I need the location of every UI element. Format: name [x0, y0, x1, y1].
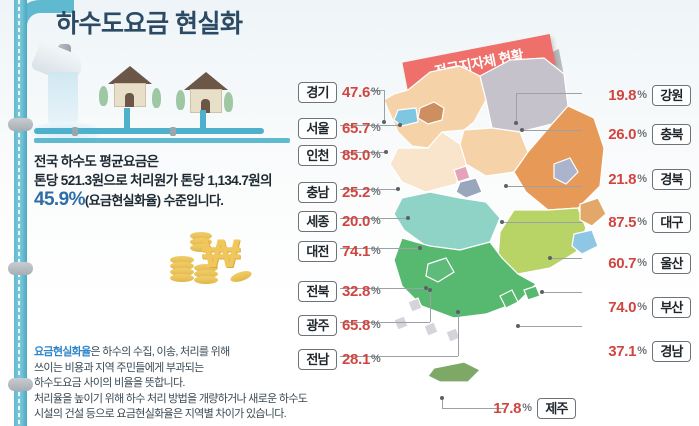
main-sewer-pipe-icon	[34, 128, 264, 134]
region-name: 전북	[298, 281, 337, 302]
korea-map	[368, 52, 618, 397]
percent-unit: %	[371, 353, 381, 365]
leader-dot	[516, 324, 520, 328]
leader-line	[520, 326, 582, 328]
region-value: 87.5	[608, 214, 636, 231]
region-chip-chungnam[interactable]: 충남 25.2 %	[298, 181, 381, 203]
region-value: 65.7	[342, 120, 370, 137]
region-name: 경기	[298, 82, 337, 103]
leader-dot	[398, 123, 402, 127]
region-value: 19.8	[608, 87, 636, 104]
percent-unit: %	[637, 301, 647, 313]
house-icon	[184, 72, 224, 110]
percent-unit: %	[637, 257, 647, 269]
pipe-band-icon	[8, 378, 33, 391]
leader-dot	[540, 290, 544, 294]
region-value: 85.0	[342, 147, 370, 164]
region-name: 대구	[652, 212, 691, 233]
leader-line	[430, 290, 432, 322]
leader-line	[504, 222, 582, 224]
region-value: 25.2	[342, 184, 370, 201]
region-value: 28.1	[342, 351, 370, 368]
leader-dot	[396, 187, 400, 191]
region-name: 전남	[298, 349, 337, 370]
region-value: 21.8	[608, 171, 636, 188]
infographic-root: 하수도요금 현실화 전국 하수도 평균요금은 톤당 521.3원으로 처리원가 …	[0, 0, 699, 426]
leader-line	[516, 93, 582, 95]
region-name: 서울	[298, 118, 337, 139]
percent-unit: %	[371, 186, 381, 198]
footnote-line-1-rest: 은 하수의 수집, 이송, 처리를 위해	[91, 346, 230, 358]
leader-dot	[500, 220, 504, 224]
region-value: 60.7	[608, 255, 636, 272]
leader-dot	[456, 310, 460, 314]
region-value: 20.0	[342, 213, 370, 230]
summary-line-1: 전국 하수도 평균요금은	[34, 152, 310, 171]
pipe-band-icon	[8, 262, 33, 275]
service-pipe-icon	[200, 110, 206, 128]
region-name: 충북	[652, 124, 691, 145]
region-name: 대전	[298, 241, 337, 262]
leader-dot	[548, 256, 552, 260]
footnote-line-3: 하수도요금 사이의 비율을 뜻합니다.	[34, 376, 334, 392]
region-chip-incheon[interactable]: 인천 85.0 %	[298, 144, 381, 166]
percent-unit: %	[637, 216, 647, 228]
realization-rate-caption: (요금현실화율) 수준입니다.	[85, 193, 223, 208]
won-currency-icon: ₩	[202, 234, 240, 274]
percent-unit: %	[371, 122, 381, 134]
leader-dot	[418, 246, 422, 250]
region-chip-gyeonggi[interactable]: 경기 47.6 %	[298, 81, 381, 103]
region-chip-gwangju[interactable]: 광주 65.8 %	[298, 314, 381, 336]
region-chip-daegu[interactable]: 87.5 % 대구	[586, 211, 691, 233]
region-name: 인천	[298, 145, 337, 166]
region-chip-ulsan[interactable]: 60.7 % 울산	[586, 252, 691, 274]
region-chip-jeonnam[interactable]: 전남 28.1 %	[298, 348, 381, 370]
percent-unit: %	[637, 89, 647, 101]
percent-unit: %	[522, 402, 532, 414]
footnote-line-4: 처리율을 높이기 위해 하수 처리 방법을 개량하거나 새로운 하수도	[34, 392, 334, 408]
percent-unit: %	[637, 345, 647, 357]
coins-illustration: ₩	[168, 232, 268, 292]
map-region-jeju	[428, 362, 480, 382]
footnote-block: 요금현실화율은 하수의 수집, 이송, 처리를 위해 쓰이는 비용과 지역 주민…	[34, 345, 334, 423]
leader-dot	[520, 128, 524, 132]
summary-line-2: 톤당 521.3원으로 처리원가 톤당 1,134.7원의	[34, 171, 310, 190]
summary-block: 전국 하수도 평균요금은 톤당 521.3원으로 처리원가 톤당 1,134.7…	[34, 152, 310, 210]
summary-line-3: 45.9%(요금현실화율) 수준입니다.	[34, 190, 310, 210]
realization-rate-value: 45.9%	[34, 189, 85, 210]
percent-unit: %	[371, 285, 381, 297]
footnote-keyword: 요금현실화율	[34, 346, 91, 358]
region-name: 부산	[652, 297, 691, 318]
leader-line	[552, 258, 582, 260]
footnote-line-5: 시설의 건설 등으로 요금현실화율은 지역별 차이가 있습니다.	[34, 407, 334, 423]
region-name: 강원	[652, 85, 691, 106]
region-chip-sejong[interactable]: 세종 20.0 %	[298, 210, 381, 232]
pipe-band-icon	[8, 118, 33, 131]
pipe-rail-decoration	[14, 0, 27, 426]
region-value: 74.1	[342, 243, 370, 260]
leader-line	[524, 130, 582, 132]
region-chip-jeonbuk[interactable]: 전북 32.8 %	[298, 280, 381, 302]
leader-dot	[504, 184, 508, 188]
region-value: 65.8	[342, 317, 370, 334]
percent-unit: %	[371, 86, 381, 98]
region-chip-gangwon[interactable]: 19.8 % 강원	[586, 84, 691, 106]
region-chip-daejeon[interactable]: 대전 74.1 %	[298, 240, 381, 262]
pipe-joint-icon	[170, 127, 176, 136]
pipe-joint-icon	[72, 127, 78, 136]
region-chip-jeju[interactable]: 17.8 % 제주	[476, 397, 576, 419]
region-name: 울산	[652, 253, 691, 274]
leader-line	[384, 90, 386, 122]
divider	[34, 138, 290, 143]
percent-unit: %	[637, 173, 647, 185]
leader-line	[458, 312, 460, 356]
leader-dot	[382, 120, 386, 124]
leader-line	[442, 400, 444, 408]
leader-dot	[514, 121, 518, 125]
footnote-line-1: 요금현실화율은 하수의 수집, 이송, 처리를 위해	[34, 345, 334, 361]
region-name: 제주	[537, 398, 576, 419]
region-chip-busan[interactable]: 74.0 % 부산	[586, 296, 691, 318]
leader-dot	[406, 216, 410, 220]
region-chip-gyeongnam[interactable]: 37.1 % 경남	[586, 340, 691, 362]
region-value: 37.1	[608, 343, 636, 360]
region-name: 광주	[298, 315, 337, 336]
region-value: 32.8	[342, 283, 370, 300]
percent-unit: %	[371, 215, 381, 227]
service-pipe-icon	[124, 108, 130, 128]
percent-unit: %	[637, 128, 647, 140]
leader-line	[508, 186, 582, 188]
leader-dot	[440, 396, 444, 400]
footnote-line-2: 쓰이는 비용과 지역 주민들에게 부과되는	[34, 361, 334, 377]
percent-unit: %	[371, 245, 381, 257]
region-chip-seoul[interactable]: 서울 65.7 %	[298, 117, 381, 139]
leader-line	[516, 93, 518, 123]
percent-unit: %	[371, 319, 381, 331]
region-name: 충남	[298, 182, 337, 203]
region-name: 경북	[652, 169, 691, 190]
region-chip-gyeongbuk[interactable]: 21.8 % 경북	[586, 168, 691, 190]
house-icon	[108, 66, 152, 108]
leader-dot	[384, 150, 388, 154]
region-value: 17.8	[493, 400, 521, 417]
region-value: 26.0	[608, 126, 636, 143]
region-value: 47.6	[342, 84, 370, 101]
region-chip-chungbuk[interactable]: 26.0 % 충북	[586, 123, 691, 145]
region-name: 경남	[652, 341, 691, 362]
region-value: 74.0	[608, 299, 636, 316]
leader-dot	[428, 288, 432, 292]
leader-line	[544, 292, 582, 294]
percent-unit: %	[371, 149, 381, 161]
region-name: 세종	[298, 211, 337, 232]
page-title: 하수도요금 현실화	[56, 4, 242, 40]
